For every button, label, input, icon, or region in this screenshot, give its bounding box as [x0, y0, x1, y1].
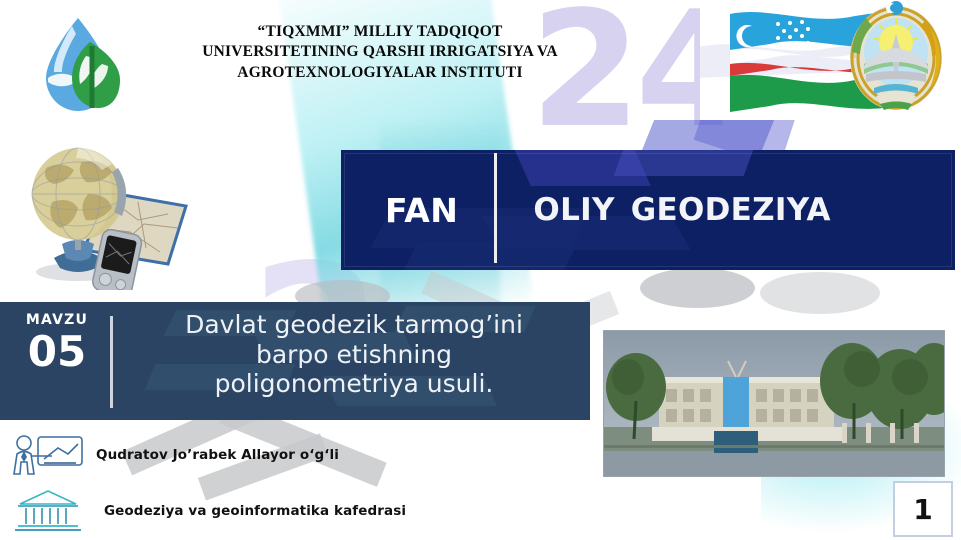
grey-ellipse-3 — [760, 272, 880, 314]
topic-number-block: MAVZU 05 — [14, 312, 100, 374]
institute-title-line-3: AGROTEXNOLOGIYALAR INSTITUTI — [145, 63, 615, 83]
topic-label: MAVZU — [14, 312, 100, 328]
department-row: Geodeziya va geoinformatika kafedrasi — [8, 488, 406, 534]
topic-title-line-2: barpo etishning — [130, 340, 578, 370]
banner-label: FAN — [385, 191, 458, 230]
banner-subject-word-2: GEODEZIYA — [631, 192, 831, 228]
globe-map-gps-illustration — [18, 132, 198, 290]
presenter-row: Qudratov Jo’rabek Allayor o‘g‘li — [8, 432, 339, 478]
banner-content: FAN OLIYGEODEZIYA — [385, 180, 831, 240]
presenter-name: Qudratov Jo’rabek Allayor o‘g‘li — [96, 447, 339, 463]
topic-panel: MAVZU 05 Davlat geodezik tarmog’ini barp… — [0, 302, 590, 420]
water-drop-leaf-logo — [28, 12, 132, 120]
institute-title: “TIQXMMI” MILLIY TADQIQOT UNIVERSITETINI… — [145, 22, 615, 83]
institute-title-line-2: UNIVERSITETINING QARSHI IRRIGATSIYA VA — [145, 42, 615, 62]
topic-title: Davlat geodezik tarmog’ini barpo etishni… — [130, 310, 578, 399]
banner-subject: OLIYGEODEZIYA — [533, 192, 830, 228]
presentation-slide: 24 2 “TIQXMMI” MILLIY TADQIQOT UNIVERSIT… — [0, 0, 961, 540]
topic-title-line-3: poligonometriya usuli. — [130, 369, 578, 399]
topic-number: 05 — [14, 330, 100, 374]
slide-number: 1 — [893, 481, 953, 537]
department-name: Geodeziya va geoinformatika kafedrasi — [104, 503, 406, 519]
grey-ellipse-2 — [640, 268, 755, 308]
institute-building-photo — [603, 330, 945, 477]
topic-divider — [110, 316, 113, 408]
subject-banner: FAN OLIYGEODEZIYA — [341, 150, 955, 270]
topic-title-line-1: Davlat geodezik tarmog’ini — [130, 310, 578, 340]
banner-divider — [494, 153, 497, 263]
uzbekistan-flag-and-emblem — [700, 0, 961, 120]
teacher-at-board-icon — [8, 432, 86, 478]
classical-building-icon — [8, 488, 86, 534]
banner-subject-word-1: OLIY — [533, 192, 614, 228]
institute-title-line-1: “TIQXMMI” MILLIY TADQIQOT — [145, 22, 615, 42]
